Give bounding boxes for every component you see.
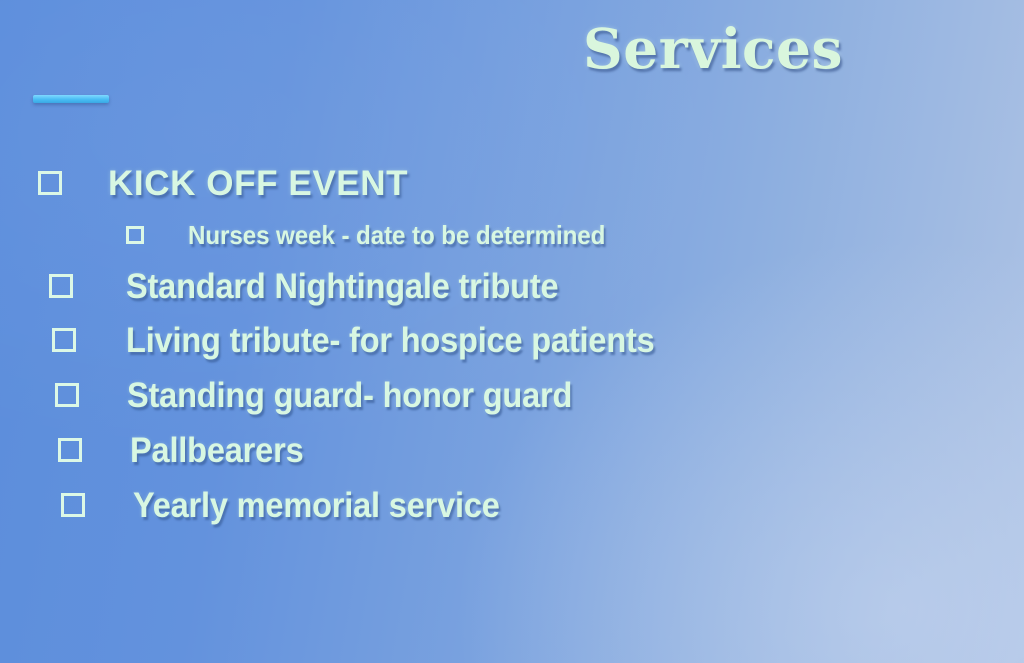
- bullet-label: Pallbearers: [130, 431, 303, 471]
- bullet-label: KICK OFF EVENT: [108, 164, 408, 204]
- hollow-square-bullet-icon: [38, 171, 62, 195]
- bullet-label: Nurses week - date to be determined: [188, 220, 605, 251]
- bullet-row: Standing guard- honor guard: [55, 376, 606, 416]
- title-accent-rule: [33, 95, 109, 103]
- slide-title: Services: [583, 20, 843, 78]
- hollow-square-bullet-icon: [55, 383, 79, 407]
- hollow-square-bullet-icon: [49, 274, 73, 298]
- hollow-square-bullet-icon: [61, 493, 85, 517]
- hollow-square-bullet-icon: [58, 438, 82, 462]
- bullet-row: Nurses week - date to be determined: [126, 220, 637, 251]
- bullet-row: Yearly memorial service: [61, 486, 527, 526]
- bullet-row: KICK OFF EVENT: [38, 164, 408, 204]
- hollow-square-bullet-icon: [52, 328, 76, 352]
- hollow-square-bullet-icon: [126, 226, 144, 244]
- bullet-label: Standard Nightingale tribute: [126, 267, 558, 307]
- bullet-row: Living tribute- for hospice patients: [52, 321, 694, 361]
- bullet-row: Pallbearers: [58, 431, 317, 471]
- presentation-slide: Services KICK OFF EVENTNurses week - dat…: [0, 0, 1024, 663]
- bullet-label: Yearly memorial service: [133, 486, 500, 526]
- bullet-label: Living tribute- for hospice patients: [126, 321, 655, 361]
- bullet-row: Standard Nightingale tribute: [49, 267, 591, 307]
- bullet-label: Standing guard- honor guard: [127, 376, 572, 416]
